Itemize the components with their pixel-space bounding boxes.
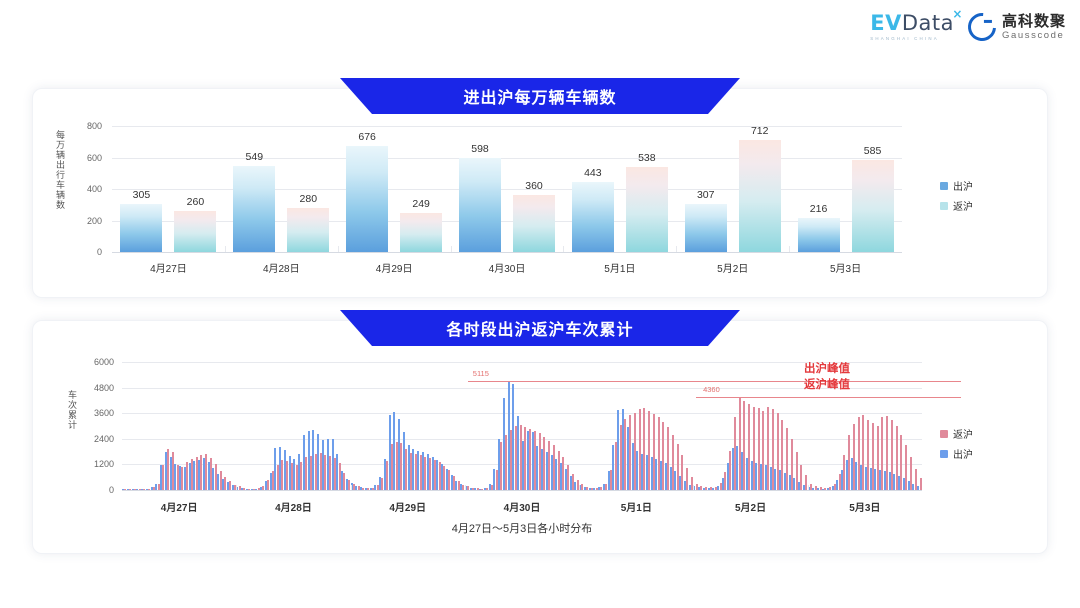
- bar-ret-daily: [287, 208, 329, 252]
- y-tick-label: 2400: [80, 434, 114, 444]
- hbar-ret: [920, 478, 922, 490]
- evdata-x-icon: ×: [952, 8, 963, 20]
- bar-out-daily: [685, 204, 727, 252]
- x-separator: [563, 246, 564, 252]
- bar-ret-daily: [174, 211, 216, 252]
- bar-value-label: 305: [133, 189, 151, 201]
- bar-value-label: 585: [864, 145, 882, 157]
- x-tick-label-daily: 4月27日: [150, 260, 187, 275]
- bar-value-label: 216: [810, 203, 828, 215]
- x-separator: [351, 485, 352, 490]
- x-tick-label-hourly: 4月28日: [275, 499, 312, 514]
- gridline: [122, 388, 922, 389]
- x-tick-label-hourly: 5月3日: [849, 499, 880, 514]
- x-tick-label-hourly: 4月27日: [161, 499, 198, 514]
- evdata-logo: EVData × shanghai china: [870, 13, 954, 41]
- legend-item-出沪: 出沪: [940, 178, 973, 193]
- legend-swatch: [940, 430, 948, 438]
- bar-value-label: 260: [187, 196, 205, 208]
- bar-value-label: 307: [697, 189, 715, 201]
- gridline: [122, 439, 922, 440]
- y-axis-title-hourly: 车次累计: [66, 390, 79, 460]
- bar-value-label: 360: [525, 180, 543, 192]
- bar-out-daily: [459, 158, 501, 252]
- y-tick-label: 4800: [80, 383, 114, 393]
- x-separator: [676, 246, 677, 252]
- x-separator: [579, 485, 580, 490]
- bar-ret-daily: [852, 160, 894, 252]
- bar-value-label: 249: [412, 198, 430, 210]
- gridline: [112, 158, 902, 159]
- y-tick-label: 800: [68, 121, 102, 131]
- logo-group: EVData × shanghai china 高科数聚 Gausscode: [870, 13, 1066, 41]
- x-tick-label-hourly: 4月30日: [504, 499, 541, 514]
- bar-value-label: 598: [471, 143, 489, 155]
- legend-label: 出沪: [953, 178, 973, 193]
- legend-label: 返沪: [953, 198, 973, 213]
- legend-label: 出沪: [953, 446, 973, 461]
- gausscode-en-text: Gausscode: [1002, 31, 1066, 41]
- y-tick-label: 0: [80, 485, 114, 495]
- bar-value-label: 712: [751, 125, 769, 137]
- y-tick-label: 200: [68, 216, 102, 226]
- bar-out-daily: [572, 182, 614, 252]
- legend-daily: 出沪返沪: [940, 178, 973, 213]
- legend-item-返沪: 返沪: [940, 426, 973, 441]
- y-tick-label: 6000: [80, 357, 114, 367]
- gridline: [112, 221, 902, 222]
- x-separator: [465, 485, 466, 490]
- x-axis-daily: [112, 252, 902, 253]
- x-axis-hourly: [122, 490, 922, 491]
- chart-title-banner-daily: 进出沪每万辆车辆数: [340, 78, 740, 114]
- peak-value-ret: 4360: [703, 385, 720, 394]
- legend-swatch: [940, 182, 948, 190]
- x-separator: [225, 246, 226, 252]
- bar-ret-daily: [513, 195, 555, 252]
- bar-value-label: 280: [300, 193, 318, 205]
- y-tick-label: 0: [68, 247, 102, 257]
- gausscode-logo: 高科数聚 Gausscode: [968, 13, 1066, 41]
- x-separator: [451, 246, 452, 252]
- gausscode-cn-text: 高科数聚: [1002, 14, 1066, 29]
- chart-title-banner-hourly: 各时段出沪返沪车次累计: [340, 310, 740, 346]
- x-separator: [808, 485, 809, 490]
- annot-label-peak-ret: 返沪峰值: [804, 376, 850, 392]
- legend-label: 返沪: [953, 426, 973, 441]
- bar-out-daily: [346, 146, 388, 252]
- peak-value-out: 5115: [473, 369, 489, 378]
- evdata-data-text: Data: [902, 11, 954, 35]
- evdata-wordmark: EVData ×: [870, 13, 954, 34]
- bar-out-daily: [120, 204, 162, 252]
- x-separator: [338, 246, 339, 252]
- gausscode-wordmark: 高科数聚 Gausscode: [1002, 14, 1066, 41]
- chart-subtitle-hourly: 4月27日～5月3日各小时分布: [452, 520, 593, 536]
- bar-ret-daily: [400, 213, 442, 252]
- bar-ret-daily: [739, 140, 781, 252]
- x-tick-label-daily: 5月1日: [604, 260, 635, 275]
- x-tick-label-daily: 4月29日: [376, 260, 413, 275]
- x-tick-label-daily: 4月30日: [489, 260, 526, 275]
- bar-value-label: 443: [584, 167, 602, 179]
- legend-swatch: [940, 450, 948, 458]
- bar-out-daily: [233, 166, 275, 252]
- x-tick-label-hourly: 4月29日: [389, 499, 426, 514]
- gausscode-mark-icon: [962, 7, 1001, 46]
- page-header: EVData × shanghai china 高科数聚 Gausscode: [0, 0, 1080, 62]
- bar-chart-hourly: 车次累计0120024003600480060004月27日4月28日4月29日…: [122, 362, 922, 490]
- x-tick-label-daily: 4月28日: [263, 260, 300, 275]
- x-tick-label-hourly: 5月2日: [735, 499, 766, 514]
- bar-value-label: 538: [638, 152, 656, 164]
- x-separator: [789, 246, 790, 252]
- x-tick-label-hourly: 5月1日: [621, 499, 652, 514]
- evdata-ev-text: EV: [870, 11, 902, 35]
- x-tick-label-daily: 5月3日: [830, 260, 861, 275]
- y-tick-label: 1200: [80, 459, 114, 469]
- gridline: [122, 413, 922, 414]
- bar-value-label: 549: [246, 151, 264, 163]
- bar-ret-daily: [626, 167, 668, 252]
- y-tick-label: 600: [68, 153, 102, 163]
- x-tick-label-daily: 5月2日: [717, 260, 748, 275]
- annot-line-peak-ret: [696, 397, 961, 399]
- bar-chart-daily: 每万辆出行车辆数02004006008004月27日3052604月28日549…: [112, 126, 902, 252]
- y-tick-label: 3600: [80, 408, 114, 418]
- evdata-tagline: shanghai china: [870, 36, 939, 41]
- y-axis-title-daily: 每万辆出行车辆数: [54, 130, 67, 248]
- gridline: [112, 126, 902, 127]
- annot-line-peak-out: [468, 381, 961, 383]
- annot-label-peak-out: 出沪峰值: [804, 360, 850, 376]
- bar-out-daily: [798, 218, 840, 252]
- bar-value-label: 676: [358, 131, 376, 143]
- gridline: [112, 189, 902, 190]
- x-separator: [693, 485, 694, 490]
- gridline: [122, 362, 922, 363]
- legend-item-返沪: 返沪: [940, 198, 973, 213]
- legend-hourly: 返沪出沪: [940, 426, 973, 461]
- x-separator: [236, 485, 237, 490]
- legend-item-出沪: 出沪: [940, 446, 973, 461]
- legend-swatch: [940, 202, 948, 210]
- y-tick-label: 400: [68, 184, 102, 194]
